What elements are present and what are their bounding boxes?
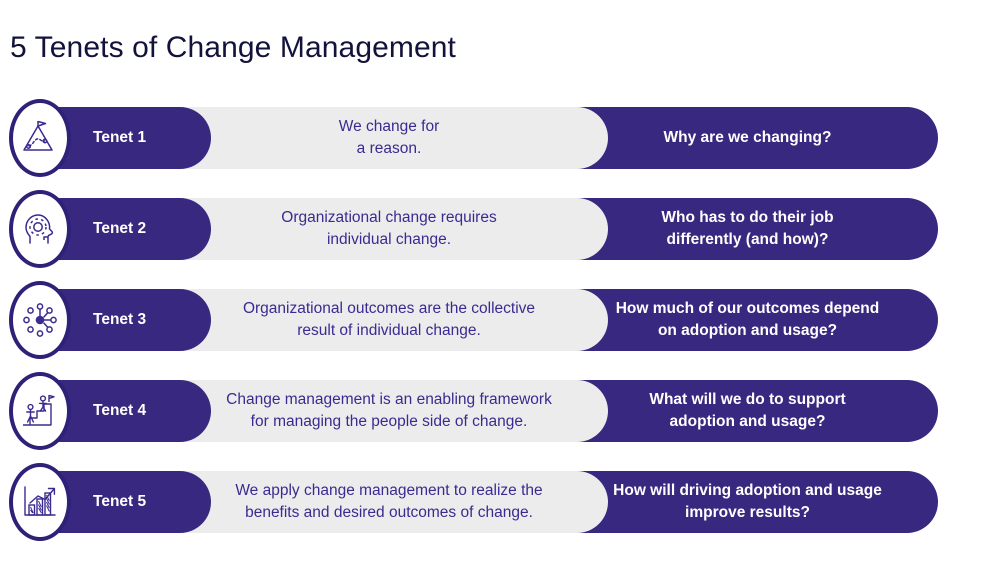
page-title: 5 Tenets of Change Management	[10, 31, 456, 65]
network-nodes-icon	[9, 281, 71, 359]
statement-text: Organizational change requires individua…	[245, 207, 542, 252]
question-text: Who has to do their job differently (and…	[591, 207, 859, 252]
infographic-canvas: 5 Tenets of Change Management Why are we…	[0, 0, 1000, 563]
bar-chart-arrow-icon	[9, 463, 71, 541]
tenet-row: How much of our outcomes depend on adopt…	[0, 281, 1000, 367]
statement-pill[interactable]: We apply change management to realize th…	[180, 471, 608, 533]
statement-pill[interactable]: Organizational change requires individua…	[180, 198, 608, 260]
statement-text: We change for a reason.	[303, 116, 486, 161]
mountain-flag-icon	[9, 99, 71, 177]
statement-pill[interactable]: Organizational outcomes are the collecti…	[180, 289, 608, 351]
tenet-row: Who has to do their job differently (and…	[0, 190, 1000, 276]
tenet-row: How will driving adoption and usage impr…	[0, 463, 1000, 549]
people-stairs-flag-icon	[9, 372, 71, 450]
statement-pill[interactable]: Change management is an enabling framewo…	[180, 380, 608, 442]
question-text: What will we do to support adoption and …	[579, 389, 871, 434]
statement-text: Organizational outcomes are the collecti…	[207, 298, 581, 343]
statement-text: We apply change management to realize th…	[199, 480, 588, 525]
tenet-row: Why are we changing? We change for a rea…	[0, 99, 1000, 185]
head-gear-icon	[9, 190, 71, 268]
question-text: Why are we changing?	[594, 127, 858, 149]
statement-pill[interactable]: We change for a reason.	[180, 107, 608, 169]
tenet-row: What will we do to support adoption and …	[0, 372, 1000, 458]
statement-text: Change management is an enabling framewo…	[190, 389, 598, 434]
